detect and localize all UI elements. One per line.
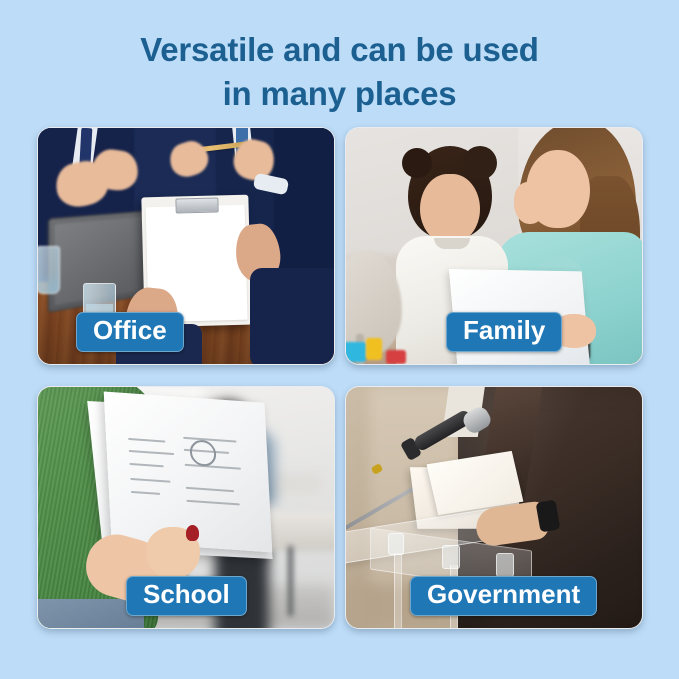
suit-figure (274, 128, 334, 280)
use-case-grid: Office (37, 127, 643, 629)
card-label-government: Government (410, 576, 597, 616)
promo-graphic: Versatile and can be used in many places (0, 0, 679, 679)
desk-object (346, 342, 366, 362)
lectern-bracket (388, 533, 404, 555)
card-label-school: School (126, 576, 247, 616)
page-title: Versatile and can be used in many places (0, 28, 679, 116)
use-case-card-family: Family (345, 127, 643, 365)
card-label-family: Family (446, 312, 562, 352)
fingernail (186, 525, 199, 541)
page-title-line-2: in many places (0, 72, 679, 116)
girl-hair-bun (463, 146, 497, 180)
card-label-office: Office (76, 312, 184, 352)
girl-face (420, 174, 480, 244)
lectern-post (394, 553, 402, 628)
clipboard-clip (176, 197, 219, 213)
use-case-card-school: School (37, 386, 335, 629)
page-title-line-1: Versatile and can be used (140, 31, 539, 68)
suit-sleeve (250, 268, 334, 364)
desk-object (366, 338, 382, 360)
shirt-collar (434, 238, 470, 249)
use-case-card-government: Government (345, 386, 643, 629)
desk-object (386, 350, 406, 364)
lectern-bracket (496, 553, 514, 577)
use-case-card-office: Office (37, 127, 335, 365)
girl-hair-bun (402, 148, 432, 178)
document-text-lines (118, 404, 257, 539)
water-glass (38, 246, 60, 294)
hand (514, 182, 546, 224)
